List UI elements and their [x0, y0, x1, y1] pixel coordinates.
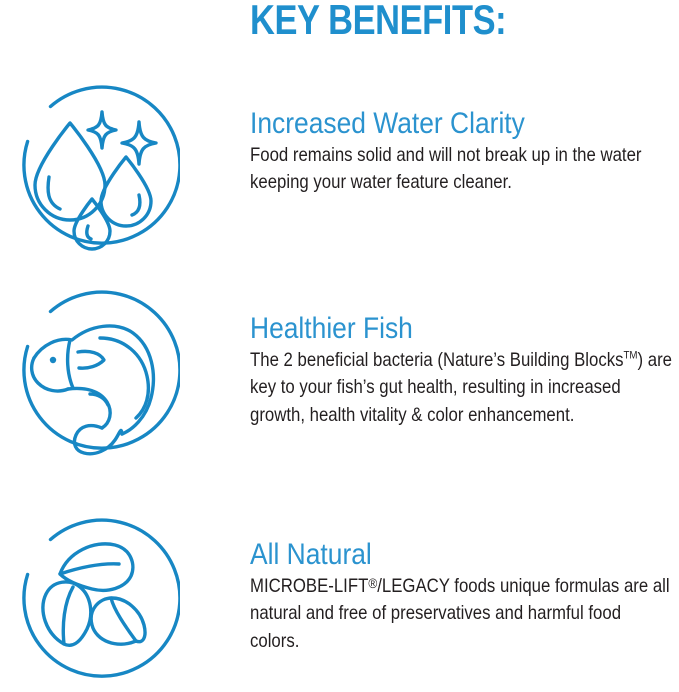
trademark-superscript: TM [623, 349, 637, 361]
benefit-description: The 2 beneficial bacteria (Nature’s Buil… [250, 347, 674, 430]
benefit-heading: All Natural [250, 538, 624, 572]
benefit-description-text: Food remains solid and will not break up… [250, 144, 642, 194]
leaping-fish-icon [12, 290, 180, 458]
benefit-heading: Increased Water Clarity [250, 107, 624, 141]
benefit-text-block: Healthier Fish The 2 beneficial bacteria… [250, 312, 675, 430]
registered-trademark-symbol: ® [368, 574, 377, 590]
benefit-heading: Healthier Fish [250, 312, 624, 346]
water-droplets-sparkle-icon [12, 85, 180, 253]
benefit-description-part-1: MICROBE-LIFT [250, 575, 368, 597]
benefit-text-block: All Natural MICROBE-LIFT®/LEGACY foods u… [250, 538, 675, 656]
key-benefits-infographic: KEY BENEFITS: Increas [0, 0, 679, 692]
three-leaves-recycle-icon [12, 518, 180, 686]
benefit-description: Food remains solid and will not break up… [250, 142, 674, 197]
benefit-text-block: Increased Water Clarity Food remains sol… [250, 107, 675, 197]
page-title: KEY BENEFITS: [250, 0, 506, 44]
benefit-description-part-1: The 2 beneficial bacteria (Nature’s Buil… [250, 349, 623, 371]
benefit-description: MICROBE-LIFT®/LEGACY foods unique formul… [250, 573, 674, 656]
